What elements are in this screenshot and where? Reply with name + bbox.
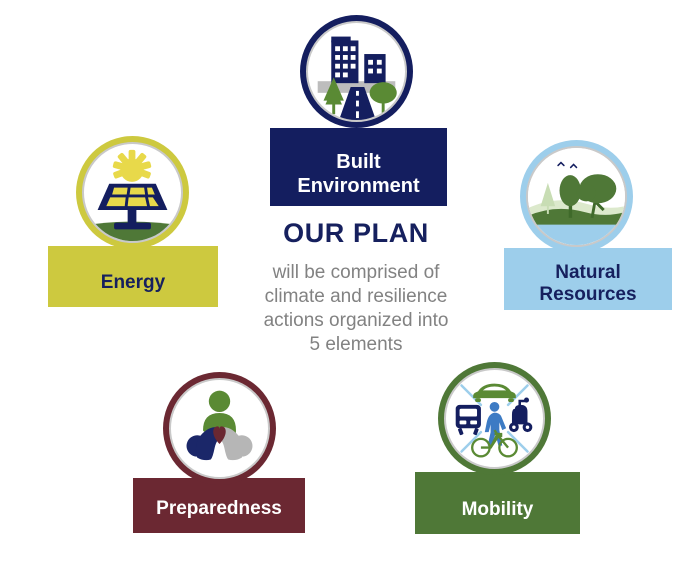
center-copy: OUR PLAN will be comprised of climate an… (236, 218, 476, 357)
preparedness-icon-face (169, 378, 270, 479)
natural-resources-label-line1: Natural (555, 262, 620, 284)
natural-resources-label-line2: Resources (539, 284, 636, 306)
preparedness-icon-circle[interactable] (163, 372, 276, 485)
city-buildings-road-icon (308, 23, 405, 120)
preparedness-label: Preparedness (156, 498, 282, 520)
page-subtitle: will be comprised of climate and resilie… (236, 261, 476, 357)
built-environment-label-line2: Environment (297, 175, 419, 199)
transport-modes-icon (446, 370, 543, 467)
preparedness-banner[interactable]: Preparedness (133, 478, 305, 533)
built-environment-label-line1: Built (336, 151, 380, 175)
mobility-icon-face (444, 368, 545, 469)
energy-banner[interactable]: Energy (48, 246, 218, 307)
mobility-label: Mobility (462, 499, 534, 521)
natural-resources-icon-face (526, 146, 627, 247)
built-environment-icon-circle[interactable] (300, 15, 413, 128)
subtitle-line-3: actions organized into (236, 309, 476, 333)
trees-landscape-water-icon (528, 148, 625, 245)
page-title: OUR PLAN (236, 218, 476, 249)
built-environment-icon-face (306, 21, 407, 122)
subtitle-line-4: 5 elements (236, 333, 476, 357)
three-people-heart-icon (171, 380, 268, 477)
natural-resources-banner[interactable]: Natural Resources (504, 248, 672, 310)
subtitle-line-2: climate and resilience (236, 285, 476, 309)
built-environment-banner[interactable]: Built Environment (270, 128, 447, 206)
solar-panel-sun-icon (84, 144, 181, 241)
scooter-icon (509, 398, 532, 433)
energy-label: Energy (101, 272, 165, 294)
car-icon (473, 384, 516, 402)
natural-resources-icon-circle[interactable] (520, 140, 633, 253)
mobility-banner[interactable]: Mobility (415, 472, 580, 534)
our-plan-infographic: Built Environment (0, 0, 682, 588)
mobility-icon-circle[interactable] (438, 362, 551, 475)
subtitle-line-1: will be comprised of (236, 261, 476, 285)
energy-icon-face (82, 142, 183, 243)
energy-icon-circle[interactable] (76, 136, 189, 249)
